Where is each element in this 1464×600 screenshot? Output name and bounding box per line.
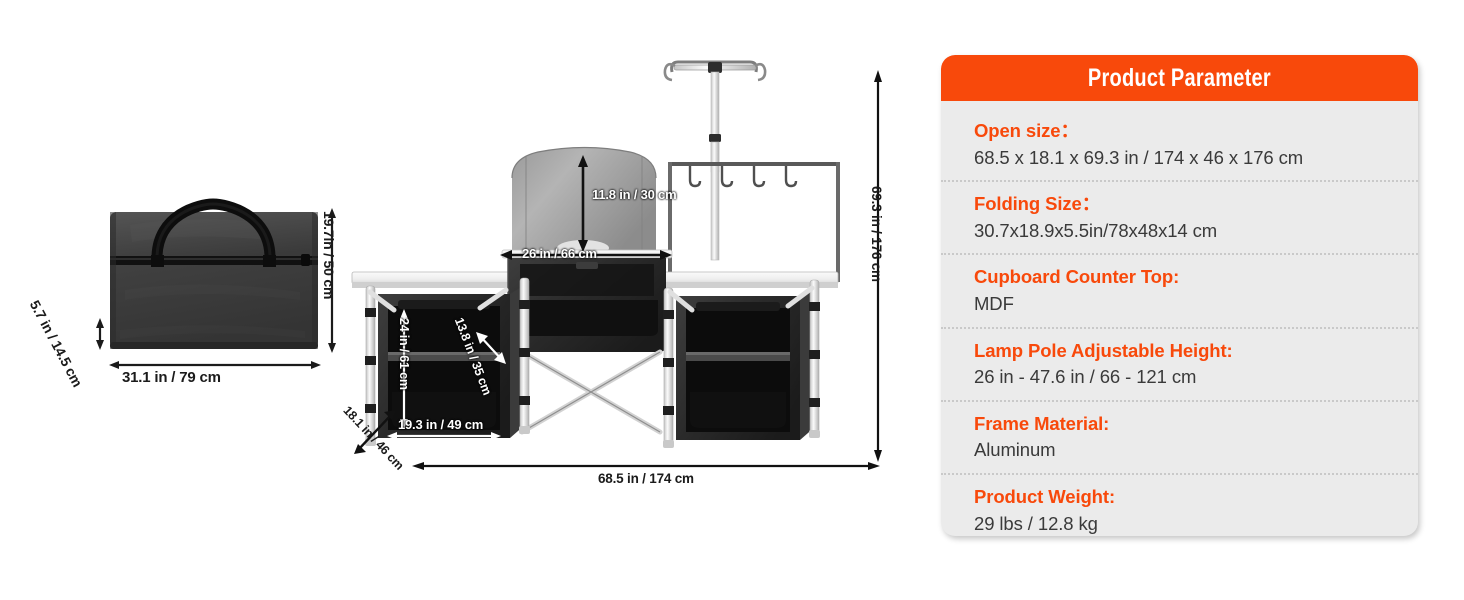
param-value: 29 lbs / 12.8 kg: [974, 512, 1418, 536]
total-width-label: 68.5 in / 174 cm: [598, 472, 694, 486]
param-label: Product Weight:: [974, 485, 1418, 510]
product-parameter-panel: Product Parameter Open size： 68.5 x 18.1…: [941, 55, 1418, 536]
param-value: 30.7x18.9x5.5in/78x48x14 cm: [974, 219, 1418, 244]
param-value: 26 in - 47.6 in / 66 - 121 cm: [974, 365, 1418, 390]
param-row-lamp-pole-adjustable-height: Lamp Pole Adjustable Height: 26 in - 47.…: [941, 329, 1418, 402]
panel-header: Product Parameter: [941, 55, 1418, 101]
param-row-cupboard-counter-top: Cupboard Counter Top: MDF: [941, 255, 1418, 328]
center-basket: [508, 258, 666, 352]
param-value: Aluminum: [974, 438, 1418, 463]
total-height-label: 69.3 in / 176 cm: [870, 186, 884, 282]
panel-title: Product Parameter: [1088, 64, 1271, 93]
param-row-folding-size: Folding Size： 30.7x18.9x5.5in/78x48x14 c…: [941, 182, 1418, 255]
param-value: MDF: [974, 292, 1418, 317]
param-value: 68.5 x 18.1 x 69.3 in / 174 x 46 x 176 c…: [974, 146, 1418, 171]
panel-body: Open size： 68.5 x 18.1 x 69.3 in / 174 x…: [941, 101, 1418, 536]
product-spec-page: 19.7in / 50 cm 31.1 in / 79 cm 5.7 in / …: [0, 0, 1464, 600]
param-row-frame-material: Frame Material: Aluminum: [941, 402, 1418, 475]
cross-brace: [522, 352, 660, 432]
hook-rail: [668, 162, 840, 282]
param-label: Open size：: [974, 119, 1418, 144]
camp-kitchen-illustration: [330, 0, 930, 600]
right-cupboard: [663, 280, 820, 448]
windshield-width-label: 26 in / 66 cm: [522, 247, 597, 260]
bag-width-label: 31.1 in / 79 cm: [122, 370, 221, 385]
param-row-product-weight: Product Weight: 29 lbs / 12.8 kg: [941, 475, 1418, 536]
param-row-open-size: Open size： 68.5 x 18.1 x 69.3 in / 174 x…: [941, 109, 1418, 182]
windshield-height-label: 11.8 in / 30 cm: [592, 188, 676, 201]
param-label: Frame Material:: [974, 412, 1418, 437]
param-label: Lamp Pole Adjustable Height:: [974, 339, 1418, 364]
camp-kitchen-figure: 11.8 in / 30 cm 26 in / 66 cm 69.3 in / …: [330, 0, 930, 600]
param-label: Folding Size：: [974, 192, 1418, 217]
cupboard-width-label: 19.3 in / 49 cm: [398, 418, 483, 431]
param-label: Cupboard Counter Top:: [974, 265, 1418, 290]
cupboard-height-label: 24 in / 61 cm: [398, 318, 411, 390]
lamp-pole: [665, 62, 765, 260]
